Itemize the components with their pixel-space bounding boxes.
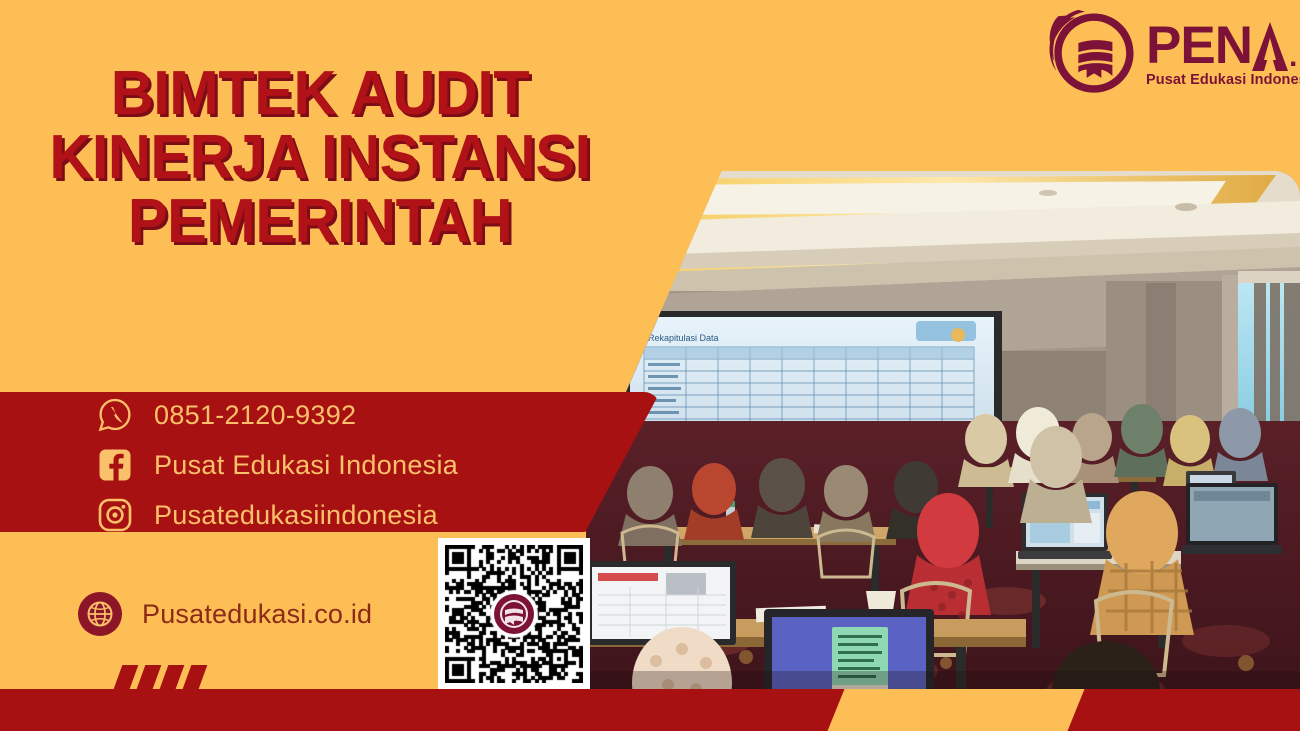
pena-emblem-icon <box>1048 8 1140 100</box>
globe-icon <box>78 592 122 636</box>
footer-accent-shape <box>828 689 1085 731</box>
qr-center-emblem-icon <box>493 593 535 635</box>
website-url: Pusatedukasi.co.id <box>142 599 372 630</box>
decorative-stripes <box>118 665 203 689</box>
qr-code[interactable] <box>438 538 590 690</box>
contact-row-whatsapp[interactable]: 0851-2120-9392 <box>98 396 458 434</box>
instagram-icon <box>98 498 132 532</box>
brand-wordmark-dot: . <box>1289 43 1296 71</box>
brand-logo: PEN . Pusat Edukasi Indonesia <box>1048 6 1294 102</box>
stripe-2 <box>137 665 162 689</box>
stripe-4 <box>183 665 208 689</box>
stripe-1 <box>114 665 139 689</box>
website-row[interactable]: Pusatedukasi.co.id <box>78 592 372 636</box>
promotional-banner: PEN . Pusat Edukasi Indonesia BIMTEK AUD… <box>0 0 1300 731</box>
contact-row-facebook[interactable]: Pusat Edukasi Indonesia <box>98 446 458 484</box>
facebook-icon <box>98 448 132 482</box>
photo-content: Rekapitulasi Data <box>586 171 1300 731</box>
svg-text:Rekapitulasi Data: Rekapitulasi Data <box>648 333 719 343</box>
title-line-1: BIMTEK AUDIT <box>13 62 627 126</box>
page-title: BIMTEK AUDIT KINERJA INSTANSI PEMERINTAH <box>0 62 640 254</box>
brand-wordmark-group: PEN . Pusat Edukasi Indonesia <box>1146 22 1300 88</box>
whatsapp-number: 0851-2120-9392 <box>154 400 356 431</box>
brand-wordmark-pen: PEN <box>1146 22 1252 71</box>
brand-wordmark-a-glyph <box>1252 22 1288 71</box>
facebook-name: Pusat Edukasi Indonesia <box>154 450 458 481</box>
whatsapp-icon <box>98 398 132 432</box>
seminar-room-photo: Rekapitulasi Data <box>586 171 1300 731</box>
brand-tagline: Pusat Edukasi Indonesia <box>1146 72 1300 88</box>
stripe-3 <box>160 665 185 689</box>
contact-list: 0851-2120-9392 Pusat Edukasi Indonesia <box>98 396 458 534</box>
contact-row-instagram[interactable]: Pusatedukasiindonesia <box>98 496 458 534</box>
instagram-handle: Pusatedukasiindonesia <box>154 500 438 531</box>
title-line-3: PEMERINTAH <box>13 190 627 254</box>
title-line-2: KINERJA INSTANSI <box>13 126 627 190</box>
footer-bar <box>0 689 1300 731</box>
brand-wordmark: PEN . <box>1146 22 1300 71</box>
